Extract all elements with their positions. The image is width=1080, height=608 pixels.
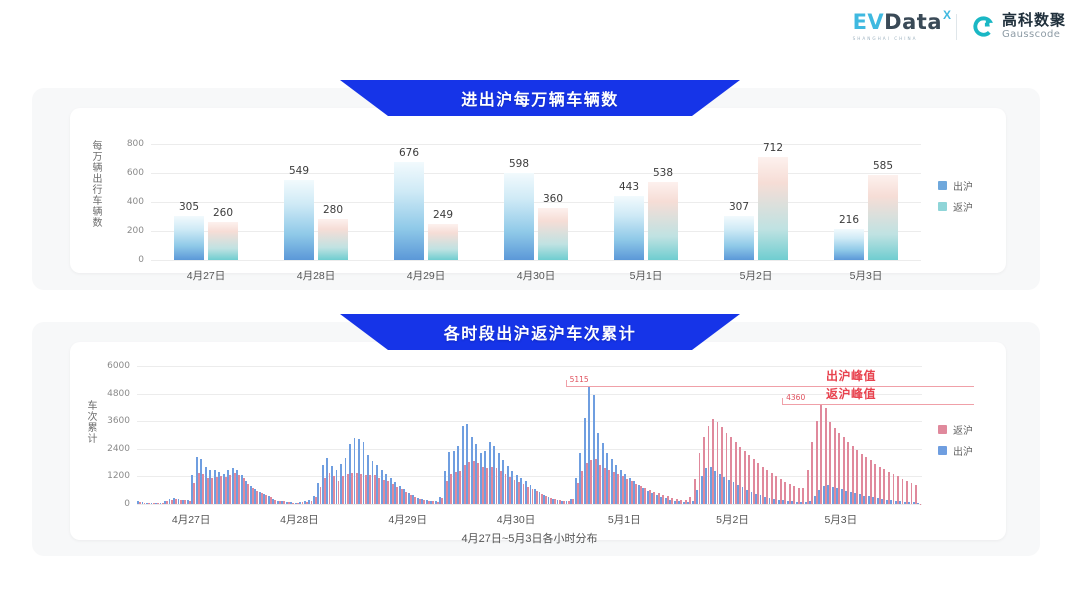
chart-1-y-tick-label: 200 (127, 226, 144, 236)
chart-1-legend-label: 返沪 (953, 199, 973, 214)
chart-1-bar-出沪: 443 (614, 196, 644, 260)
chart-2-legend-item[interactable]: 返沪 (938, 422, 973, 437)
chart-1-bar-value: 249 (433, 209, 453, 221)
chart-2-bar-back (915, 485, 917, 504)
chart-1-bar-出沪: 549 (284, 180, 314, 260)
chart-2-gridline (137, 504, 922, 505)
chart-2-legend-label: 返沪 (953, 422, 973, 437)
chart-1-bar-value: 280 (323, 204, 343, 216)
chart-2-legend-swatch (938, 446, 947, 455)
chart-1-bar-value: 305 (179, 201, 199, 213)
chart-1-bar-value: 538 (653, 167, 673, 179)
chart-2-annotation-label: 返沪峰值 (826, 385, 876, 402)
chart-1-y-tick-label: 0 (138, 255, 144, 265)
chart-1-x-tick-label: 4月27日 (187, 268, 226, 283)
chart-1-y-tick-label: 600 (127, 168, 144, 178)
chart-2-y-tick-label: 0 (124, 499, 130, 509)
chart-2-x-tick-label: 5月2日 (716, 512, 749, 527)
chart-2-plot-area: 0120024003600480060004月27日4月28日4月29日4月30… (137, 366, 922, 504)
chart-2-bar-back (906, 481, 908, 504)
chart-2-y-tick-label: 4800 (107, 389, 130, 399)
chart-1-bar-出沪: 307 (724, 216, 754, 261)
evdata-wordmark: EVData (853, 12, 942, 33)
chart-2-bar-back (920, 504, 922, 505)
chart-1-y-tick-label: 400 (127, 197, 144, 207)
chart-2-x-axis-caption: 4月27日~5月3日各小时分布 (461, 530, 597, 546)
chart-1-x-tick-label: 5月2日 (740, 268, 773, 283)
page-root: EVData X SHANGHAI CHINA 高科数聚 Gausscode 进… (0, 0, 1080, 608)
chart-1-y-tick-label: 800 (127, 139, 144, 149)
chart-1-bar-value: 443 (619, 181, 639, 193)
chart-2-title-banner: 各时段出沪返沪车次累计 (340, 314, 740, 350)
chart-1-title-banner: 进出沪每万辆车辆数 (340, 80, 740, 116)
chart-2-x-tick-label: 4月27日 (172, 512, 211, 527)
chart-1-bar-出沪: 216 (834, 229, 864, 260)
chart-2-annotation-value: 5115 (570, 375, 589, 384)
gausscode-logo: 高科数聚 Gausscode (971, 13, 1066, 40)
chart-1-bar-value: 598 (509, 158, 529, 170)
chart-1-bar-value: 216 (839, 214, 859, 226)
chart-2-annotation-tick-出沪峰值 (566, 380, 567, 387)
chart-2-annotation-line-返沪峰值 (782, 404, 974, 405)
chart-2-bar-back (902, 479, 904, 504)
chart-1-bar-返沪: 538 (648, 182, 678, 260)
chart-1-bar-返沪: 712 (758, 157, 788, 260)
chart-2-x-tick-label: 4月29日 (388, 512, 427, 527)
chart-1-gridline (151, 260, 921, 261)
chart-1-bar-返沪: 260 (208, 222, 238, 260)
chart-1-group: 216585 (811, 144, 921, 260)
chart-1-bar-value: 585 (873, 160, 893, 172)
chart-1-group: 307712 (701, 144, 811, 260)
chart-1-legend: 出沪返沪 (938, 178, 973, 214)
gausscode-cn: 高科数聚 (1002, 13, 1066, 28)
chart-2-bar-back (888, 472, 890, 504)
chart-1-bar-value: 260 (213, 207, 233, 219)
gausscode-en: Gausscode (1002, 30, 1066, 40)
chart-1-bar-出沪: 598 (504, 173, 534, 260)
chart-1-group: 549280 (261, 144, 371, 260)
chart-1-legend-swatch (938, 181, 947, 190)
chart-1-x-tick-label: 4月30日 (517, 268, 556, 283)
chart-2-legend-swatch (938, 425, 947, 434)
chart-1-bar-出沪: 305 (174, 216, 204, 260)
evdata-suffix: Data (884, 10, 942, 34)
logo-divider (956, 14, 957, 40)
chart-1-y-axis-title: 每万辆出行车辆数 (88, 140, 103, 244)
header-logo-bar: EVData X SHANGHAI CHINA 高科数聚 Gausscode (853, 12, 1066, 41)
chart-1-bar-value: 549 (289, 165, 309, 177)
gausscode-text: 高科数聚 Gausscode (1002, 13, 1066, 40)
chart-2-legend-label: 出沪 (953, 443, 973, 458)
chart-2-bar-back (811, 442, 813, 504)
chart-1-x-tick-label: 4月29日 (407, 268, 446, 283)
chart-2-legend-item[interactable]: 出沪 (938, 443, 973, 458)
chart-2-gridline (137, 449, 922, 450)
chart-2-y-tick-label: 6000 (107, 361, 130, 371)
chart-2-annotation-tick-返沪峰值 (782, 398, 783, 405)
chart-1-bar-返沪: 280 (318, 219, 348, 260)
chart-2-bar-back (893, 474, 895, 504)
gausscode-g-icon (971, 14, 996, 39)
evdata-logo: EVData X SHANGHAI CHINA (853, 12, 942, 41)
chart-2-x-tick-label: 4月30日 (497, 512, 536, 527)
chart-2-annotation-value: 4360 (786, 393, 805, 402)
evdata-tagline: SHANGHAI CHINA (853, 36, 918, 41)
chart-2-y-axis-title: 车次累计 (83, 400, 98, 480)
chart-1-legend-item[interactable]: 出沪 (938, 178, 973, 193)
chart-2-bar-back (897, 476, 899, 504)
chart-2-gridline (137, 476, 922, 477)
chart-2-y-tick-label: 1200 (107, 471, 130, 481)
chart-2-y-tick-label: 3600 (107, 416, 130, 426)
chart-1-x-tick-label: 5月3日 (850, 268, 883, 283)
chart-1-bar-返沪: 360 (538, 208, 568, 260)
chart-1-bar-value: 360 (543, 193, 563, 205)
chart-2-gridline (137, 366, 922, 367)
chart-1-plot-area: 02004006008003052604月27日5492804月28日67624… (151, 144, 921, 260)
chart-1-bar-value: 676 (399, 147, 419, 159)
chart-2-bar-back (807, 470, 809, 505)
chart-1-bar-出沪: 676 (394, 162, 424, 260)
chart-2-legend: 返沪出沪 (938, 422, 973, 458)
evdata-superscript-icon: X (943, 8, 951, 22)
chart-1-bar-value: 307 (729, 201, 749, 213)
chart-2-annotation-label: 出沪峰值 (826, 367, 876, 384)
evdata-prefix: EV (853, 10, 885, 34)
chart-1-bar-返沪: 249 (428, 224, 458, 260)
chart-1-legend-item[interactable]: 返沪 (938, 199, 973, 214)
chart-1-group: 676249 (371, 144, 481, 260)
chart-1-group: 598360 (481, 144, 591, 260)
chart-2-gridline (137, 421, 922, 422)
chart-1-group: 443538 (591, 144, 701, 260)
chart-1-bar-value: 712 (763, 142, 783, 154)
chart-2-annotation-line-出沪峰值 (566, 386, 974, 387)
chart-1-x-tick-label: 5月1日 (630, 268, 663, 283)
chart-2-y-tick-label: 2400 (107, 444, 130, 454)
chart-2-x-tick-label: 5月3日 (824, 512, 857, 527)
chart-1-legend-label: 出沪 (953, 178, 973, 193)
chart-2-x-tick-label: 4月28日 (280, 512, 319, 527)
chart-2-x-tick-label: 5月1日 (608, 512, 641, 527)
chart-1-group: 305260 (151, 144, 261, 260)
chart-1-bar-返沪: 585 (868, 175, 898, 260)
chart-1-x-tick-label: 4月28日 (297, 268, 336, 283)
chart-1-legend-swatch (938, 202, 947, 211)
chart-2-bar-back (911, 483, 913, 504)
